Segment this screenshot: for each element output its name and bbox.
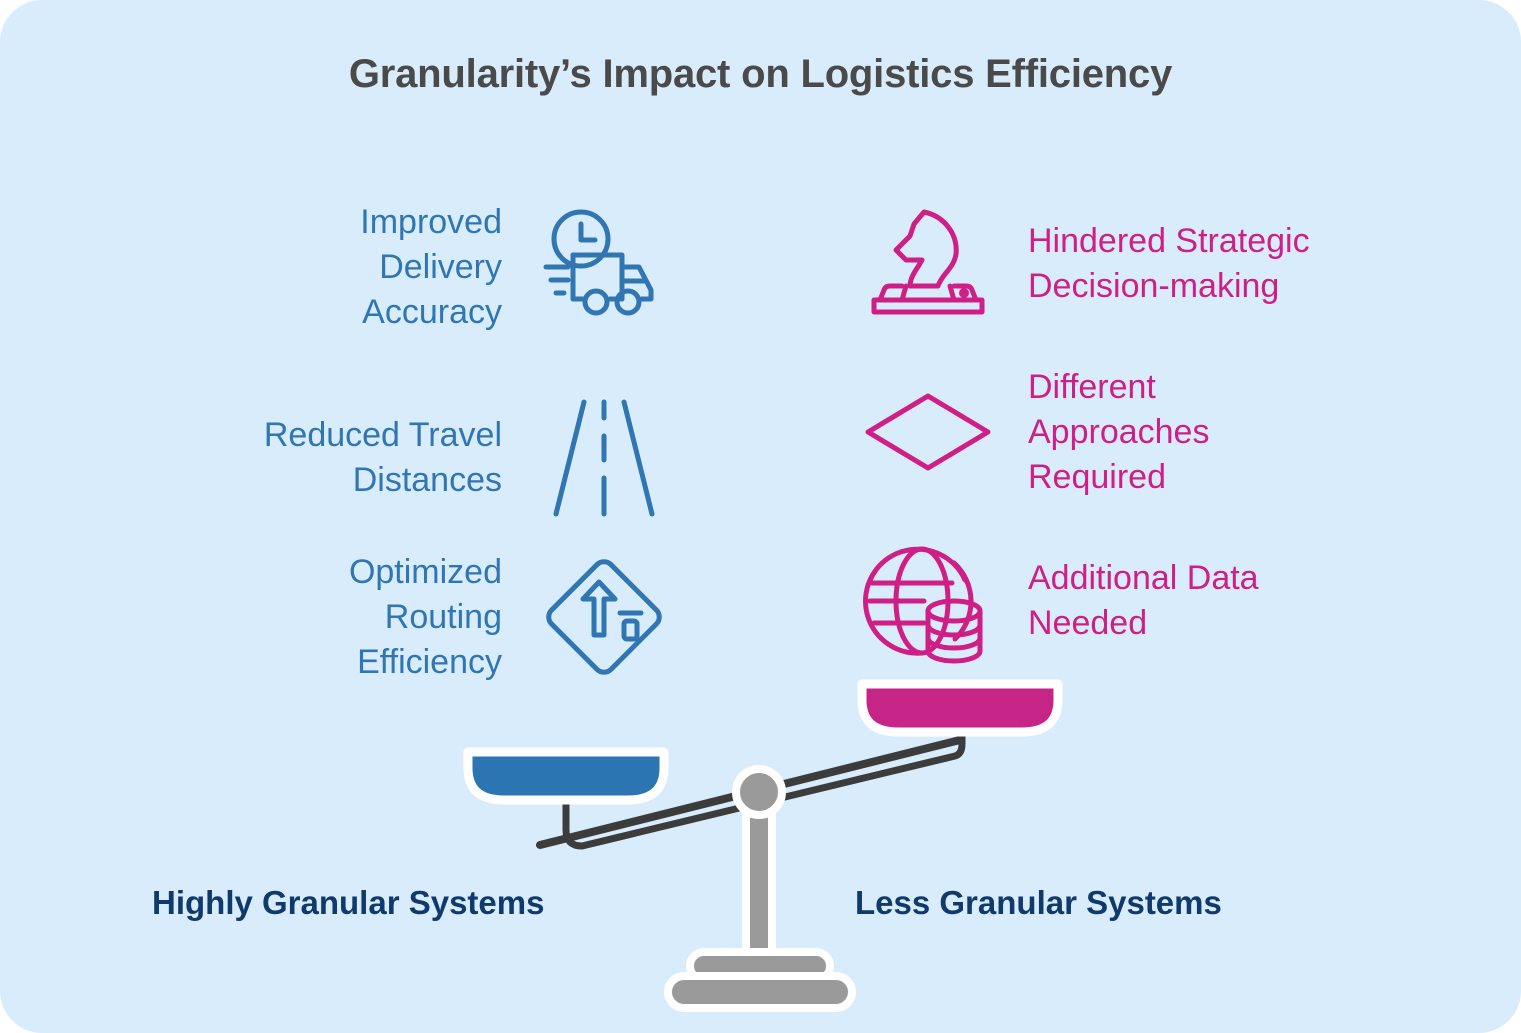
drawback-label: Additional Data Needed — [1028, 556, 1259, 646]
truck-clock-icon — [538, 201, 670, 333]
drawback-item-strategic-decisions: Hindered Strategic Decision-making — [862, 198, 1310, 330]
benefit-item-routing-efficiency: Optimized Routing Efficiency — [349, 550, 670, 685]
drawback-item-different-approaches: Different Approaches Required — [862, 365, 1209, 500]
scale-pan-left — [468, 752, 664, 800]
infographic-canvas: Granularity’s Impact on Logistics Effici… — [0, 0, 1521, 1033]
benefit-item-delivery-accuracy: Improved Delivery Accuracy — [360, 200, 670, 335]
route-sign-icon — [538, 551, 670, 683]
scale-beam — [540, 740, 960, 845]
scale-base-lower — [668, 976, 852, 1008]
chess-knight-icon — [862, 198, 994, 330]
balance-scale — [0, 0, 1521, 1033]
right-pan-label: Less Granular Systems — [855, 884, 1222, 922]
benefit-label: Improved Delivery Accuracy — [360, 200, 502, 335]
drawback-item-additional-data: Additional Data Needed — [862, 535, 1259, 667]
scale-pan-right — [862, 684, 1058, 732]
road-icon — [538, 392, 670, 524]
left-pan-label: Highly Granular Systems — [152, 884, 544, 922]
scale-post — [746, 795, 772, 970]
benefit-label: Reduced Travel Distances — [264, 413, 502, 503]
diamond-icon — [862, 366, 994, 498]
scale-pivot — [736, 769, 782, 815]
globe-database-icon — [862, 535, 994, 667]
drawback-label: Different Approaches Required — [1028, 365, 1209, 500]
page-title: Granularity’s Impact on Logistics Effici… — [0, 52, 1521, 97]
scale-cord-left — [566, 700, 962, 846]
drawback-label: Hindered Strategic Decision-making — [1028, 219, 1310, 309]
benefit-label: Optimized Routing Efficiency — [349, 550, 502, 685]
scale-base-upper — [690, 952, 830, 980]
benefit-item-travel-distances: Reduced Travel Distances — [264, 392, 670, 524]
